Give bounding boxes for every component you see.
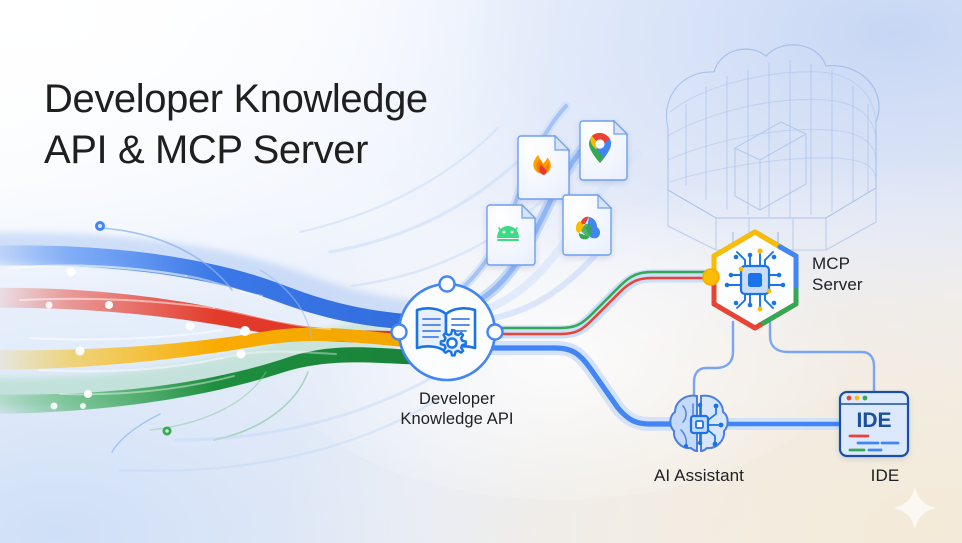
mcp-branch-links [694, 322, 874, 400]
window-traffic-dots [847, 396, 868, 401]
diagram-canvas: IDE Developer Knowledge API & MCP Server… [0, 0, 962, 543]
doc-cards-group [487, 121, 627, 265]
developer-knowledge-api-label: Developer Knowledge API [352, 389, 562, 429]
mcp-server-label: MCP Server [812, 254, 932, 295]
firebase-doc-card[interactable] [518, 136, 569, 199]
ide-screen-text: IDE [856, 409, 891, 432]
cloud-doc-card[interactable] [563, 195, 611, 255]
maps-doc-card[interactable] [580, 121, 627, 180]
sparkle-icon [894, 487, 936, 529]
mcp-to-ide-link [770, 322, 874, 392]
mcp-server-node[interactable] [703, 232, 796, 328]
gear-icon [441, 330, 466, 355]
page-title: Developer Knowledge API & MCP Server [44, 74, 428, 176]
ide-node[interactable]: IDE [840, 392, 908, 456]
brain-circuit-icon [670, 396, 727, 451]
ai-assistant-node[interactable] [670, 396, 727, 451]
isometric-wireframe-cloud [666, 45, 879, 262]
android-doc-card[interactable] [487, 205, 535, 265]
ide-label: IDE [820, 466, 950, 487]
ai-assistant-label: AI Assistant [614, 466, 784, 487]
mcp-input-port-dot [703, 269, 719, 285]
mcp-to-ai-link [694, 322, 733, 400]
